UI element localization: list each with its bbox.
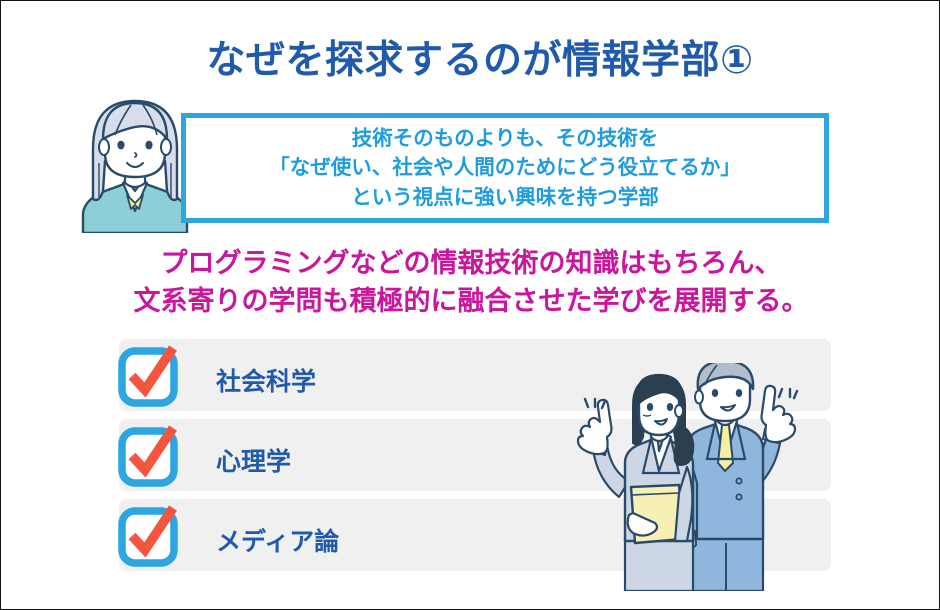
list-item-label: メディア論: [216, 522, 339, 558]
checkbox-checked-icon[interactable]: [117, 422, 179, 488]
lead-paragraph-line-1: プログラミングなどの情報技術の知識はもちろん、: [1, 244, 940, 282]
slide-canvas: なぜを探求するのが情報学部①: [0, 0, 940, 610]
lead-paragraph: プログラミングなどの情報技術の知識はもちろん、 文系寄りの学問も積極的に融合させ…: [1, 244, 940, 321]
checkbox-checked-icon[interactable]: [117, 502, 179, 568]
callout-line-2: 「なぜ使い、社会や人間のためにどう役立てるか」: [269, 153, 741, 182]
lead-paragraph-line-2: 文系寄りの学問も積極的に融合させた学びを展開する。: [1, 282, 940, 320]
two-people-pointing-up-illustration: [567, 363, 799, 591]
list-item-label: 心理学: [216, 442, 291, 478]
female-student-illustration: [75, 87, 195, 233]
callout-box: 技術そのものよりも、その技術を 「なぜ使い、社会や人間のためにどう役立てるか」 …: [181, 113, 829, 223]
list-item-label: 社会科学: [216, 362, 316, 398]
page-title: なぜを探求するのが情報学部①: [1, 41, 940, 82]
callout-line-1: 技術そのものよりも、その技術を: [352, 124, 658, 153]
checkbox-checked-icon[interactable]: [117, 342, 179, 408]
callout-line-3: という視点に強い興味を持つ学部: [351, 183, 659, 212]
